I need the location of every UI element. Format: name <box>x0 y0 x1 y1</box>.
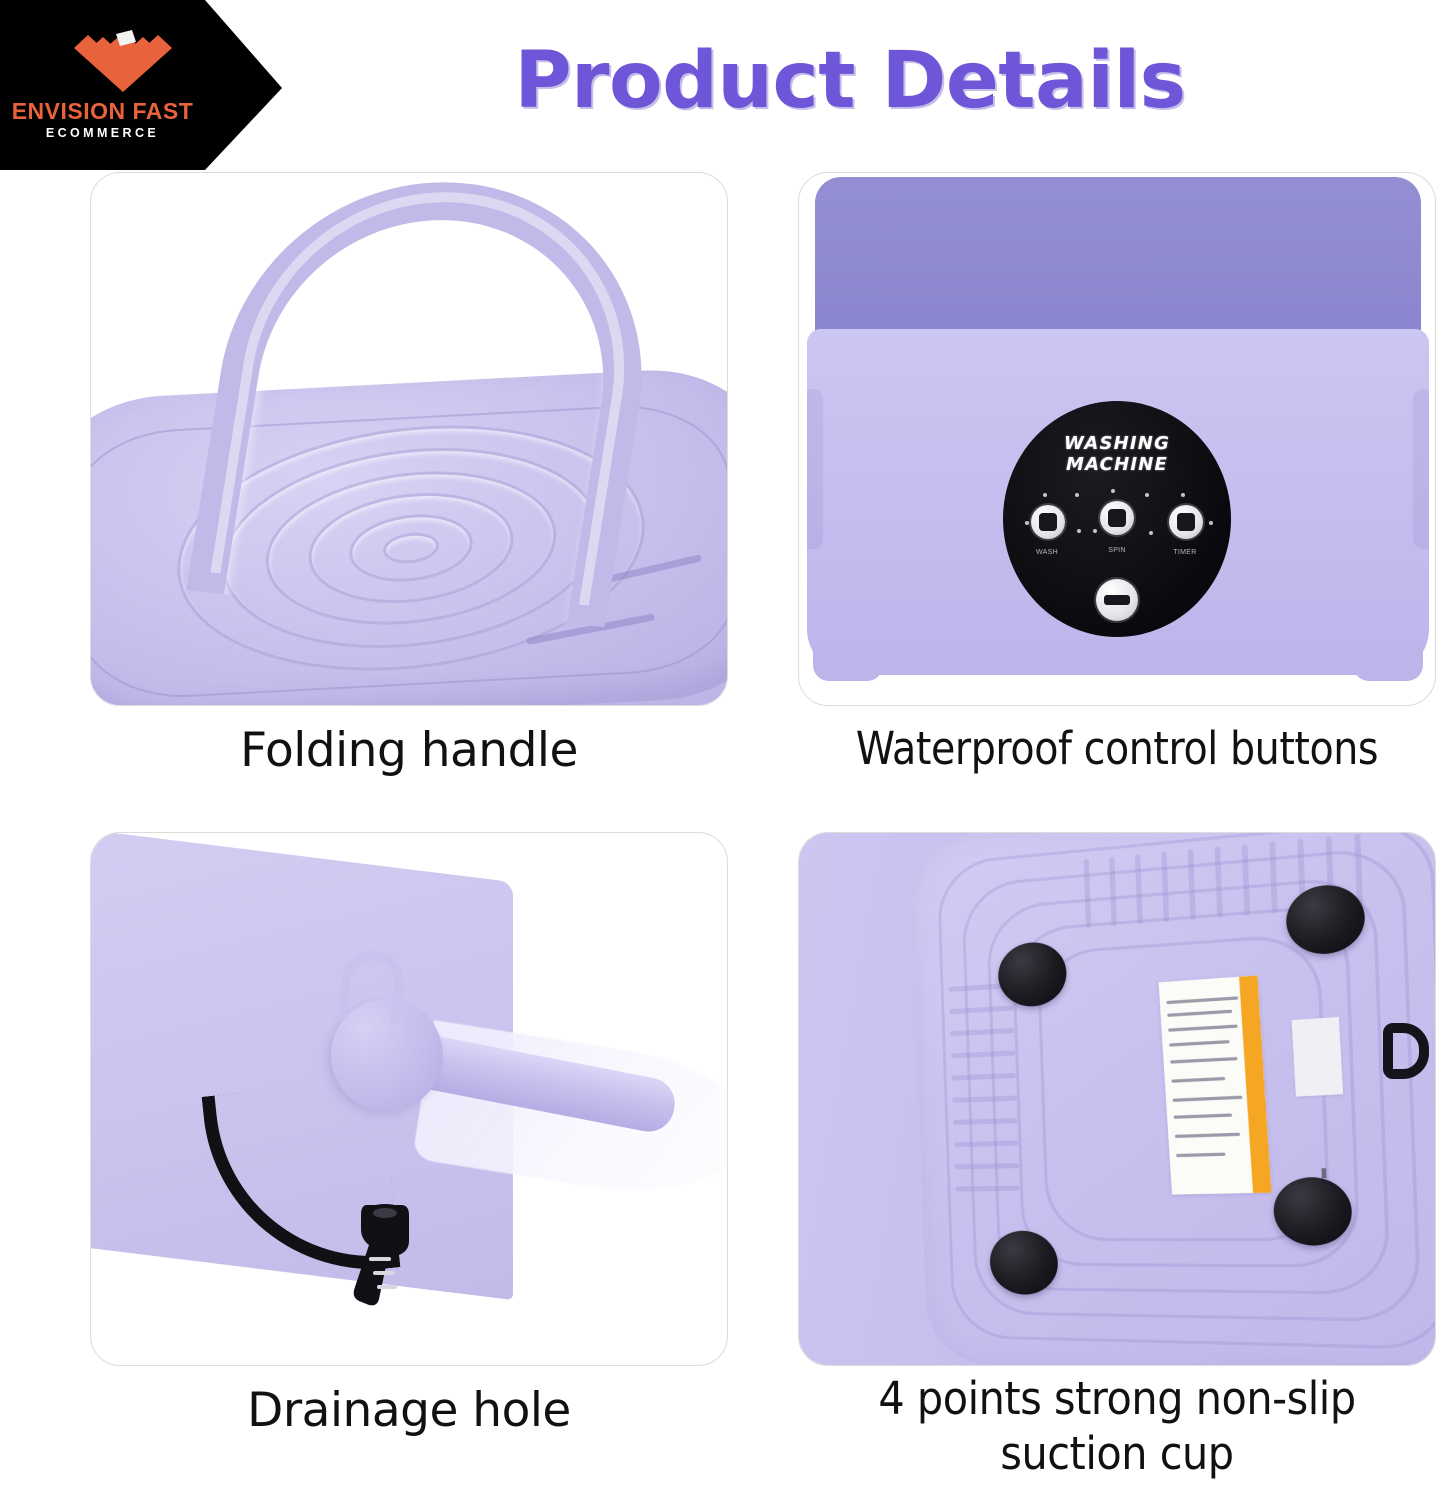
wash-mode-button[interactable] <box>1031 505 1065 539</box>
tick-d <box>1077 529 1081 533</box>
tick-f <box>1145 493 1149 497</box>
brand-tagline: ECOMMERCE <box>0 126 205 140</box>
machine-top-lid <box>815 177 1421 337</box>
label-line-6 <box>1171 1077 1225 1083</box>
timer-icon <box>1177 513 1195 531</box>
tick-e <box>1111 489 1115 493</box>
wash-icon <box>1039 513 1057 531</box>
detail-cell-control-buttons: WASHING MACHINE <box>798 172 1436 832</box>
spin-icon <box>1108 509 1126 527</box>
machine-foot-left <box>813 647 883 681</box>
rib-t1 <box>1084 859 1092 928</box>
spin-mode-button[interactable] <box>1100 501 1134 535</box>
photo-control-buttons: WASHING MACHINE <box>798 172 1436 706</box>
rib-l6 <box>952 1095 1017 1102</box>
detail-cell-drainage-hole: Drainage hole <box>90 832 728 1492</box>
tick-a <box>1043 493 1047 497</box>
rib-t7 <box>1242 844 1250 916</box>
detail-cell-folding-handle: Folding handle <box>90 172 728 832</box>
label-line-9 <box>1175 1133 1240 1138</box>
caption-folding-handle: Folding handle <box>90 722 728 779</box>
label-line-10 <box>1176 1153 1225 1158</box>
brand-name: ENVISION FAST <box>0 98 205 125</box>
machine-front: WASHING MACHINE <box>807 177 1429 703</box>
caption-suction-line-2: suction cup <box>1000 1427 1233 1480</box>
carry-strap-loop <box>1383 1023 1429 1079</box>
product-label <box>1159 975 1272 1194</box>
details-grid: Folding handle WASHING MACHINE <box>0 170 1436 1500</box>
rib-l7 <box>953 1118 1018 1125</box>
chevron-logo-icon <box>72 18 174 94</box>
tick-h <box>1149 531 1153 535</box>
rib-t6 <box>1215 847 1223 918</box>
tick-j <box>1209 521 1213 525</box>
caption-suction-cups: 4 points strong non-slip suction cup <box>824 1372 1411 1482</box>
caption-drainage-hole: Drainage hole <box>90 1382 728 1439</box>
control-title-line-2: MACHINE <box>1066 454 1168 475</box>
label-line-5 <box>1170 1057 1237 1064</box>
brand-logo-badge: ENVISION FAST ECOMMERCE <box>0 0 282 170</box>
control-panel-arc <box>1029 559 1205 637</box>
hose-clip-icon <box>339 1199 435 1309</box>
label-line-3 <box>1168 1024 1238 1031</box>
tick-g <box>1093 529 1097 533</box>
label-line-4 <box>1169 1040 1230 1047</box>
photo-suction-cups <box>798 832 1436 1366</box>
tick-b <box>1075 493 1079 497</box>
rib-l10 <box>955 1186 1020 1192</box>
product-details-page: ENVISION FAST ECOMMERCE Product Details <box>0 0 1436 1500</box>
rib-t3 <box>1135 854 1143 924</box>
photo-drainage-hole <box>90 832 728 1366</box>
spin-button-label: SPIN <box>1085 547 1149 554</box>
wash-button-label: WASH <box>1015 549 1079 556</box>
rib-l8 <box>954 1141 1019 1148</box>
label-line-7 <box>1173 1096 1243 1102</box>
base-notch <box>1222 1353 1315 1366</box>
label-line-2 <box>1167 1010 1232 1017</box>
rib-l9 <box>955 1163 1020 1169</box>
page-title: Product Details <box>300 42 1400 120</box>
rib-t4 <box>1161 852 1169 922</box>
caption-suction-line-1: 4 points strong non-slip <box>878 1372 1355 1425</box>
control-title-line-1: WASHING <box>1064 433 1170 454</box>
machine-base-plate <box>910 832 1436 1366</box>
rib-l2 <box>949 1005 1014 1014</box>
label-line-1 <box>1166 996 1238 1004</box>
control-panel[interactable]: WASHING MACHINE <box>1003 401 1231 637</box>
control-panel-title: WASHING MACHINE <box>1003 433 1231 475</box>
base-vent-hole <box>1321 1168 1326 1178</box>
tick-c <box>1025 521 1029 525</box>
qr-sticker <box>1292 1017 1344 1097</box>
photo-folding-handle <box>90 172 728 706</box>
label-line-8 <box>1174 1113 1232 1118</box>
detail-cell-suction-cups: 4 points strong non-slip suction cup <box>798 832 1436 1492</box>
rib-l5 <box>952 1073 1017 1081</box>
rib-t8 <box>1269 841 1277 913</box>
rib-l3 <box>950 1028 1015 1036</box>
caption-control-buttons: Waterproof control buttons <box>836 722 1397 777</box>
rib-l4 <box>951 1050 1016 1058</box>
timer-button[interactable] <box>1169 505 1203 539</box>
tick-i <box>1181 493 1185 497</box>
rib-t5 <box>1188 849 1196 920</box>
page-header: ENVISION FAST ECOMMERCE Product Details <box>0 0 1436 170</box>
timer-button-label: TIMER <box>1153 549 1217 556</box>
machine-foot-right <box>1353 647 1423 681</box>
rib-t2 <box>1109 857 1117 927</box>
